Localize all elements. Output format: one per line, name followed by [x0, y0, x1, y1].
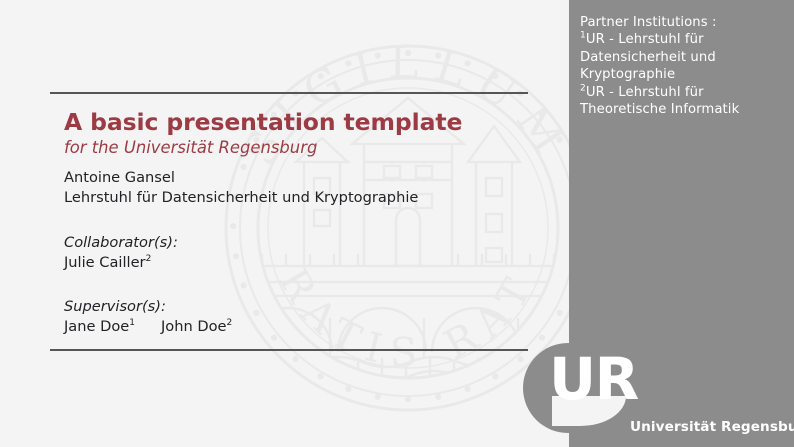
supervisor-affiliation-mark: 1 [129, 318, 135, 328]
page-title: A basic presentation template [64, 108, 534, 136]
author-affiliation: Lehrstuhl für Datensicherheit und Krypto… [64, 188, 534, 208]
institution-entry: 2UR - Lehrstuhl für [580, 84, 785, 101]
collaborator-affiliation-mark: 2 [146, 254, 152, 264]
ur-logo-monogram: UR [549, 350, 638, 408]
university-wordmark: Universität Regensburg [630, 419, 794, 435]
institution-line: Datensicherheit und [580, 49, 785, 66]
author-name: Antoine Gansel [64, 168, 534, 188]
institution-line: Theoretische Informatik [580, 101, 785, 118]
presentation-slide: SIGILLUM RATIS RAT [0, 0, 794, 447]
supervisor-affiliation-mark: 2 [227, 318, 233, 328]
supervisors-block: Supervisor(s): Jane Doe1John Doe2 [64, 297, 534, 336]
supervisor-name: John Doe [161, 318, 227, 335]
author-block: Antoine Gansel Lehrstuhl für Datensicher… [64, 168, 534, 207]
partner-institutions-list: Partner Institutions : 1UR - Lehrstuhl f… [580, 14, 785, 118]
institution-line: UR - Lehrstuhl für [586, 32, 704, 47]
partner-institutions-heading: Partner Institutions : [580, 14, 785, 31]
divider-bottom [50, 349, 528, 351]
title-block: A basic presentation template for the Un… [64, 108, 534, 336]
institution-entry: 1UR - Lehrstuhl für [580, 31, 785, 48]
collaborators-label: Collaborator(s): [64, 233, 534, 253]
divider-top [50, 92, 528, 94]
collaborator-name: Julie Cailler [64, 254, 146, 271]
supervisors-label: Supervisor(s): [64, 297, 534, 317]
collaborators-block: Collaborator(s): Julie Cailler2 [64, 233, 534, 272]
page-subtitle: for the Universität Regensburg [64, 137, 534, 159]
institution-line: UR - Lehrstuhl für [586, 85, 704, 100]
collaborators-names: Julie Cailler2 [64, 253, 534, 273]
institution-line: Kryptographie [580, 66, 785, 83]
supervisor-name: Jane Doe [64, 318, 129, 335]
supervisors-names: Jane Doe1John Doe2 [64, 317, 534, 337]
